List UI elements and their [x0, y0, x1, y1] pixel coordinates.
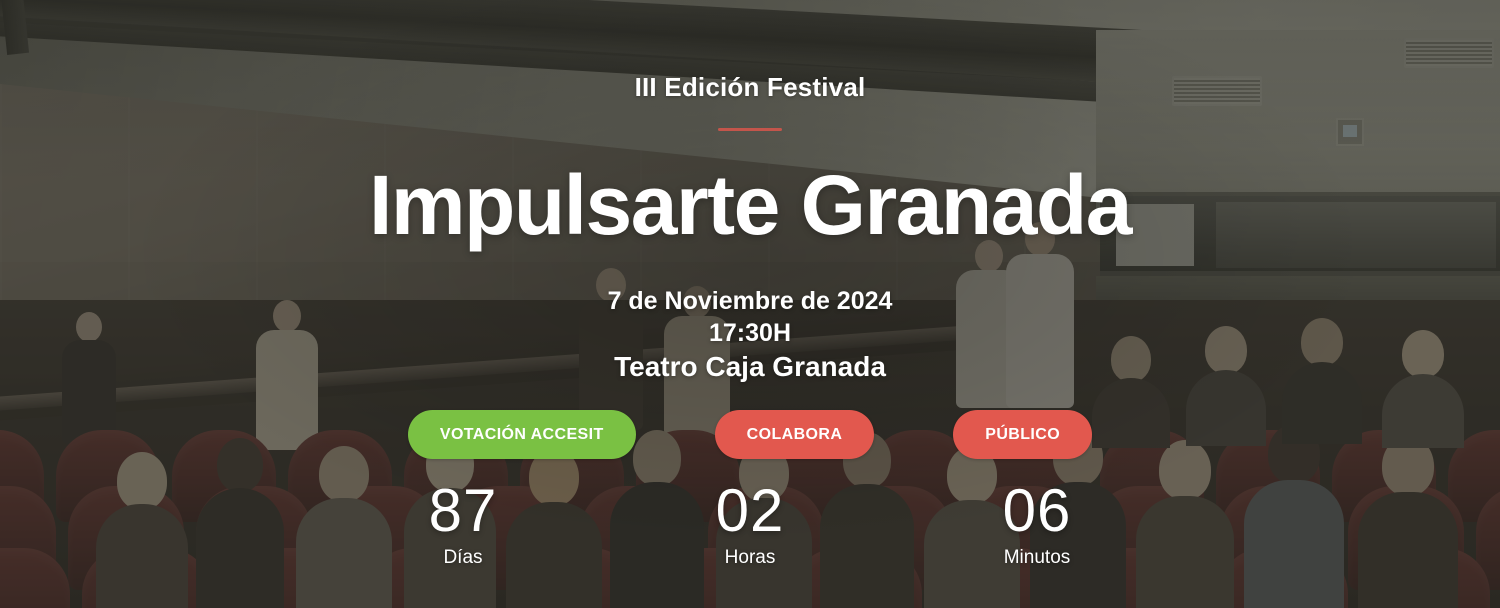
- event-time: 17:30H: [608, 318, 893, 350]
- countdown-unit-minutes: 06 Minutos: [894, 482, 1181, 569]
- countdown-hours-value: 02: [716, 482, 785, 541]
- colabora-button[interactable]: COLABORA: [715, 410, 875, 459]
- countdown-timer: 87 Días 02 Horas 06 Minutos: [320, 482, 1181, 569]
- hero-content: III Edición Festival Impulsarte Granada …: [0, 0, 1500, 608]
- event-date: 7 de Noviembre de 2024: [608, 286, 893, 318]
- cta-button-group: VOTACIÓN ACCESIT COLABORA PÚBLICO: [408, 410, 1092, 459]
- countdown-days-label: Días: [443, 547, 482, 569]
- event-venue: Teatro Caja Granada: [608, 349, 893, 384]
- page-title: Impulsarte Granada: [369, 163, 1131, 247]
- eyebrow-heading: III Edición Festival: [635, 74, 866, 100]
- countdown-minutes-label: Minutos: [1004, 547, 1071, 569]
- countdown-unit-days: 87 Días: [320, 482, 607, 569]
- publico-button[interactable]: PÚBLICO: [953, 410, 1092, 459]
- countdown-days-value: 87: [429, 482, 498, 541]
- accent-rule: [718, 128, 782, 131]
- hero-banner: III Edición Festival Impulsarte Granada …: [0, 0, 1500, 608]
- votacion-accesit-button[interactable]: VOTACIÓN ACCESIT: [408, 410, 636, 459]
- countdown-hours-label: Horas: [725, 547, 776, 569]
- countdown-unit-hours: 02 Horas: [607, 482, 894, 569]
- event-details: 7 de Noviembre de 2024 17:30H Teatro Caj…: [608, 286, 893, 384]
- countdown-minutes-value: 06: [1003, 482, 1072, 541]
